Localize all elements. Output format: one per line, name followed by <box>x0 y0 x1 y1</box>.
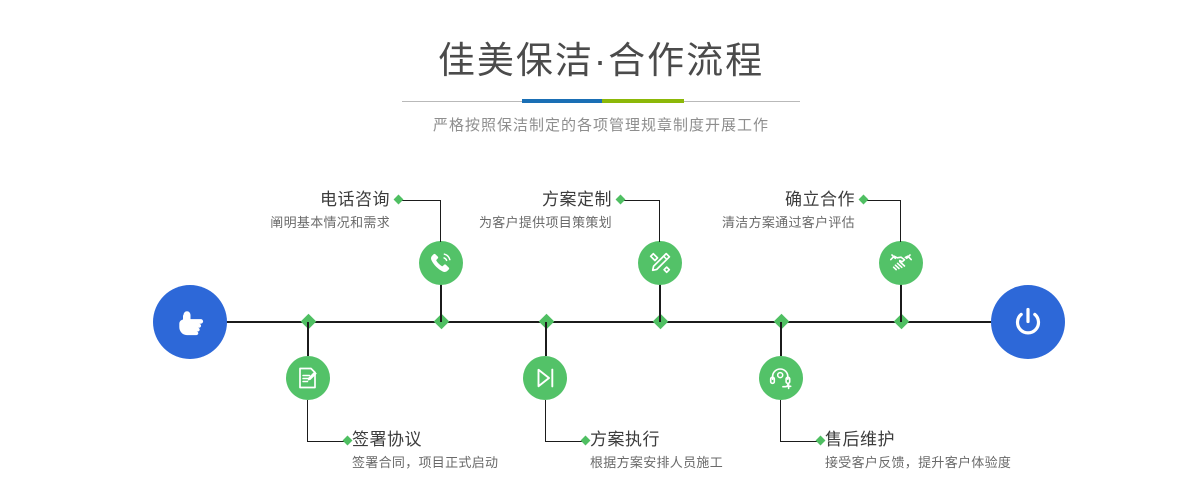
node-phone-consult[interactable] <box>419 241 463 285</box>
phone-call-icon <box>428 250 454 276</box>
node-sign-agreement[interactable] <box>286 356 330 400</box>
leader-vertical-establish-cooperation <box>900 200 901 242</box>
pencil-ruler-icon <box>647 250 673 276</box>
label-sign-agreement: 签署协议 签署合同，项目正式启动 <box>352 428 612 474</box>
handshake-icon <box>888 250 914 276</box>
label-desc-after-sales: 接受客户反馈，提升客户体验度 <box>825 452 1125 474</box>
stem-after-sales <box>780 322 782 356</box>
stem-sign-agreement <box>307 322 309 356</box>
leader-vertical-sign-agreement <box>307 400 308 441</box>
leader-dot-establish-cooperation <box>859 195 869 205</box>
leader-dot-plan-custom <box>616 195 626 205</box>
label-title-establish-cooperation: 确立合作 <box>640 188 855 212</box>
label-title-plan-custom: 方案定制 <box>400 188 612 212</box>
timeline-end-node <box>991 285 1065 359</box>
node-after-sales[interactable] <box>759 356 803 400</box>
pointing-hand-icon <box>170 302 210 342</box>
label-after-sales: 售后维护 接受客户反馈，提升客户体验度 <box>825 428 1125 474</box>
label-desc-plan-custom: 为客户提供项目策策划 <box>400 212 612 234</box>
divider-segment-blue <box>522 99 602 103</box>
title-divider <box>402 101 800 102</box>
power-icon <box>1008 302 1048 342</box>
node-establish-cooperation[interactable] <box>879 241 923 285</box>
page-title: 佳美保洁·合作流程 <box>0 0 1202 84</box>
label-title-phone-consult: 电话咨询 <box>175 188 390 212</box>
node-plan-execute[interactable] <box>523 356 567 400</box>
stem-plan-execute <box>545 322 547 356</box>
label-title-sign-agreement: 签署协议 <box>352 428 612 452</box>
label-desc-establish-cooperation: 清洁方案通过客户评估 <box>640 212 855 234</box>
headset-add-icon <box>768 365 794 391</box>
label-desc-plan-execute: 根据方案安排人员施工 <box>590 452 850 474</box>
leader-horizontal-sign-agreement <box>307 441 347 442</box>
document-edit-icon <box>295 365 321 391</box>
label-desc-sign-agreement: 签署合同，项目正式启动 <box>352 452 612 474</box>
timeline-start-node <box>153 285 227 359</box>
label-establish-cooperation: 确立合作 清洁方案通过客户评估 <box>640 188 855 234</box>
label-title-plan-execute: 方案执行 <box>590 428 850 452</box>
label-plan-custom: 方案定制 为客户提供项目策策划 <box>400 188 612 234</box>
page-subtitle: 严格按照保洁制定的各项管理规章制度开展工作 <box>0 102 1202 137</box>
label-desc-phone-consult: 阐明基本情况和需求 <box>175 212 390 234</box>
node-plan-custom[interactable] <box>638 241 682 285</box>
timeline-axis <box>155 321 1050 323</box>
play-next-icon <box>532 365 558 391</box>
cooperation-flow-infographic: 佳美保洁·合作流程 严格按照保洁制定的各项管理规章制度开展工作 <box>0 0 1202 502</box>
header: 佳美保洁·合作流程 严格按照保洁制定的各项管理规章制度开展工作 <box>0 0 1202 137</box>
leader-dot-sign-agreement <box>343 436 353 446</box>
label-title-after-sales: 售后维护 <box>825 428 1125 452</box>
label-phone-consult: 电话咨询 阐明基本情况和需求 <box>175 188 390 234</box>
leader-horizontal-establish-cooperation <box>865 200 901 201</box>
label-plan-execute: 方案执行 根据方案安排人员施工 <box>590 428 850 474</box>
divider-segment-green <box>602 99 684 103</box>
